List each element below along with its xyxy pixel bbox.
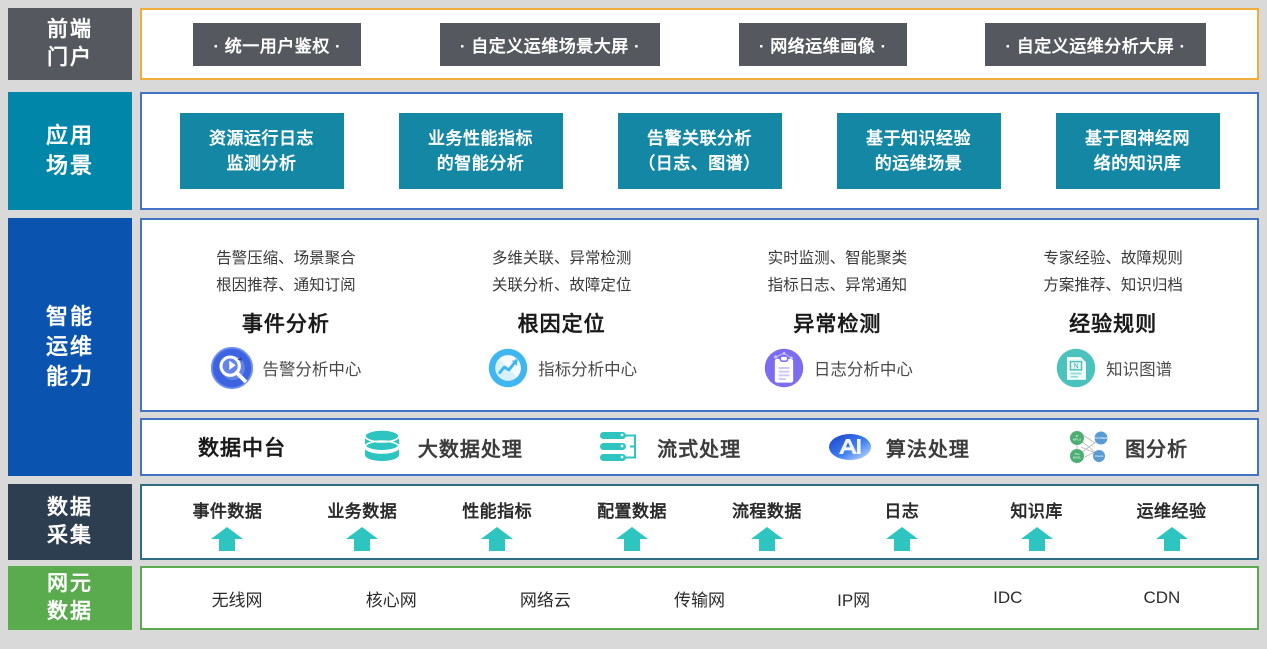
app-card-business-perf-metric[interactable]: 业务性能指标 的智能分析 <box>399 113 563 189</box>
capability-title: 异常检测 <box>793 308 881 338</box>
arrow-up-icon <box>1155 526 1189 552</box>
collect-item-performance-metric[interactable]: 性能指标 <box>430 486 565 558</box>
app-card-resource-runtime-log[interactable]: 资源运行日志 监测分析 <box>180 113 344 189</box>
capability-sub2: 方案推荐、知识归档 <box>1043 273 1183 299</box>
app-card-line1: 基于图神经网 <box>1085 126 1190 152</box>
hub-item-algorithm-processing[interactable]: 算法处理 <box>784 427 1013 467</box>
data-middle-platform-title: 数据中台 <box>158 432 326 462</box>
hub-item-graph-analysis[interactable]: IPMPLS TheMSSL ADVISER Oracle 图分析 <box>1012 427 1241 467</box>
capability-sub2: 指标日志、异常通知 <box>768 273 908 299</box>
network-element-data-tag: 网元 数据 <box>8 566 132 630</box>
aiops-tag-line3: 能力 <box>46 362 94 392</box>
data-collection-row: 数据 采集 事件数据 业务数据 性能指标 配置数据 流程数据 <box>8 484 1259 560</box>
capability-title: 事件分析 <box>242 308 330 338</box>
database-icon <box>358 427 406 467</box>
collect-item-config-data[interactable]: 配置数据 <box>565 486 700 558</box>
log-clipboard-icon <box>762 346 806 390</box>
network-element-tag-line1: 网元 <box>47 570 93 598</box>
capability-event-analysis[interactable]: 告警压缩、场景聚合 根因推荐、通知订阅 事件分析 告 <box>148 220 424 410</box>
collect-item-log-data[interactable]: 日志 <box>834 486 969 558</box>
capability-center-label: 日志分析中心 <box>814 356 913 380</box>
hub-item-bigdata-processing[interactable]: 大数据处理 <box>326 427 555 467</box>
app-card-graph-neural-kb[interactable]: 基于图神经网 络的知识库 <box>1056 113 1220 189</box>
capability-sub1: 多维关联、异常检测 <box>492 246 632 272</box>
network-element-data-row: 网元 数据 无线网 核心网 网络云 传输网 IP网 IDC CDN <box>8 566 1259 630</box>
collect-item-label: 配置数据 <box>597 497 667 522</box>
collect-item-knowledge-base[interactable]: 知识库 <box>969 486 1104 558</box>
ne-item-transport-network[interactable]: 传输网 <box>622 586 776 611</box>
arrow-up-icon <box>885 526 919 552</box>
app-card-line2: （日志、图谱） <box>638 151 761 177</box>
pill-custom-ops-scene-dashboard[interactable]: · 自定义运维场景大屏 · <box>440 23 660 66</box>
collect-item-business-data[interactable]: 业务数据 <box>295 486 430 558</box>
aiops-tag-line1: 智能 <box>46 302 94 332</box>
hub-item-label: 算法处理 <box>886 433 970 462</box>
ne-item-ip-network[interactable]: IP网 <box>777 586 931 611</box>
aiops-capability-tag: 智能 运维 能力 <box>8 218 132 476</box>
capability-sub1: 告警压缩、场景聚合 <box>216 246 356 272</box>
application-scenarios-panel: 资源运行日志 监测分析 业务性能指标 的智能分析 告警关联分析 （日志、图谱） … <box>140 92 1259 210</box>
capability-title: 经验规则 <box>1069 308 1157 338</box>
capability-sub1: 专家经验、故障规则 <box>1043 246 1183 272</box>
capability-sub2: 根因推荐、通知订阅 <box>216 273 356 299</box>
metric-trend-icon <box>486 346 530 390</box>
network-element-tag-line2: 数据 <box>47 598 93 626</box>
front-portal-tag-line1: 前端 <box>47 16 93 44</box>
hub-item-label: 大数据处理 <box>418 433 523 462</box>
arrow-up-icon <box>345 526 379 552</box>
front-portal-panel: · 统一用户鉴权 · · 自定义运维场景大屏 · · 网络运维画像 · · 自定… <box>140 8 1259 80</box>
collect-item-event-data[interactable]: 事件数据 <box>160 486 295 558</box>
collect-item-process-data[interactable]: 流程数据 <box>700 486 835 558</box>
arrow-up-icon <box>210 526 244 552</box>
data-middle-platform-panel: 数据中台 大数据处理 <box>140 418 1259 476</box>
collect-item-label: 流程数据 <box>732 497 802 522</box>
capability-root-cause-location[interactable]: 多维关联、异常检测 关联分析、故障定位 根因定位 指标分析中心 <box>424 220 700 410</box>
svg-text:MPLS: MPLS <box>1073 438 1081 442</box>
pill-custom-ops-analysis-dashboard[interactable]: · 自定义运维分析大屏 · <box>985 23 1205 66</box>
aiops-tag-line2: 运维 <box>46 332 94 362</box>
arrow-up-icon <box>750 526 784 552</box>
ne-item-network-cloud[interactable]: 网络云 <box>468 586 622 611</box>
ne-item-core-network[interactable]: 核心网 <box>314 586 468 611</box>
capability-experience-rules[interactable]: 专家经验、故障规则 方案推荐、知识归档 经验规则 N 知识图谱 <box>975 220 1251 410</box>
capability-center-label: 知识图谱 <box>1106 356 1172 380</box>
network-element-data-panel: 无线网 核心网 网络云 传输网 IP网 IDC CDN <box>140 566 1259 630</box>
app-card-line2: 监测分析 <box>227 151 297 177</box>
collect-item-label: 知识库 <box>1010 497 1063 522</box>
app-card-line1: 基于知识经验 <box>866 126 971 152</box>
front-portal-tag-line2: 门户 <box>47 44 93 72</box>
ne-item-cdn[interactable]: CDN <box>1085 588 1239 608</box>
app-card-line1: 资源运行日志 <box>209 126 314 152</box>
graph-network-icon: IPMPLS TheMSSL ADVISER Oracle <box>1065 427 1113 467</box>
capability-center-label: 指标分析中心 <box>538 356 637 380</box>
app-card-line2: 络的知识库 <box>1094 151 1182 177</box>
hub-item-stream-processing[interactable]: 流式处理 <box>555 427 784 467</box>
data-collection-panel: 事件数据 业务数据 性能指标 配置数据 流程数据 日志 <box>140 484 1259 560</box>
front-portal-tag: 前端 门户 <box>8 8 132 80</box>
svg-text:Oracle: Oracle <box>1095 454 1104 458</box>
svg-text:MSSL: MSSL <box>1073 456 1082 460</box>
arrow-up-icon <box>480 526 514 552</box>
application-scenarios-row: 应用 场景 资源运行日志 监测分析 业务性能指标 的智能分析 告警关联分析 （日… <box>8 92 1259 210</box>
ne-item-wireless-network[interactable]: 无线网 <box>160 586 314 611</box>
application-scenarios-tag: 应用 场景 <box>8 92 132 210</box>
app-card-line1: 业务性能指标 <box>428 126 533 152</box>
ne-item-idc[interactable]: IDC <box>931 588 1085 608</box>
pill-network-ops-profile[interactable]: · 网络运维画像 · <box>739 23 907 66</box>
collect-item-label: 运维经验 <box>1137 497 1207 522</box>
capability-title: 根因定位 <box>518 308 606 338</box>
collect-item-label: 业务数据 <box>327 497 397 522</box>
aiops-architecture-diagram: 前端 门户 · 统一用户鉴权 · · 自定义运维场景大屏 · · 网络运维画像 … <box>0 0 1267 649</box>
capability-anomaly-detection[interactable]: 实时监测、智能聚类 指标日志、异常通知 异常检测 <box>700 220 976 410</box>
stream-icon <box>597 427 645 467</box>
pill-unified-user-auth[interactable]: · 统一用户鉴权 · <box>193 23 361 66</box>
svg-text:N: N <box>1073 361 1079 370</box>
hub-item-label: 流式处理 <box>657 433 741 462</box>
capability-sub1: 实时监测、智能聚类 <box>768 246 908 272</box>
data-collection-tag-line2: 采集 <box>47 522 93 550</box>
capability-panel: 告警压缩、场景聚合 根因推荐、通知订阅 事件分析 告 <box>140 218 1259 412</box>
data-collection-tag: 数据 采集 <box>8 484 132 560</box>
collect-item-label: 事件数据 <box>192 497 262 522</box>
collect-item-label: 日志 <box>884 497 919 522</box>
alarm-search-icon <box>210 346 254 390</box>
app-card-line2: 的智能分析 <box>437 151 525 177</box>
arrow-up-icon <box>1020 526 1054 552</box>
capability-sub2: 关联分析、故障定位 <box>492 273 632 299</box>
collect-item-ops-experience[interactable]: 运维经验 <box>1104 486 1239 558</box>
app-card-line2: 的运维场景 <box>875 151 963 177</box>
knowledge-doc-icon: N <box>1054 346 1098 390</box>
application-scenarios-tag-line1: 应用 <box>46 121 94 151</box>
app-card-knowledge-experience-ops[interactable]: 基于知识经验 的运维场景 <box>837 113 1001 189</box>
collect-item-label: 性能指标 <box>462 497 532 522</box>
aiops-content: 告警压缩、场景聚合 根因推荐、通知订阅 事件分析 告 <box>140 218 1259 476</box>
app-card-alarm-correlation[interactable]: 告警关联分析 （日志、图谱） <box>618 113 782 189</box>
capability-center-label: 告警分析中心 <box>262 356 361 380</box>
svg-text:ADVISER: ADVISER <box>1095 436 1109 440</box>
hub-item-label: 图分析 <box>1125 433 1188 462</box>
front-portal-row: 前端 门户 · 统一用户鉴权 · · 自定义运维场景大屏 · · 网络运维画像 … <box>8 8 1259 80</box>
aiops-capability-row: 智能 运维 能力 告警压缩、场景聚合 根因推荐、通知订阅 事件分析 <box>8 218 1259 476</box>
ai-icon <box>826 427 874 467</box>
app-card-line1: 告警关联分析 <box>647 126 752 152</box>
data-collection-tag-line1: 数据 <box>47 494 93 522</box>
application-scenarios-tag-line2: 场景 <box>46 151 94 181</box>
arrow-up-icon <box>615 526 649 552</box>
